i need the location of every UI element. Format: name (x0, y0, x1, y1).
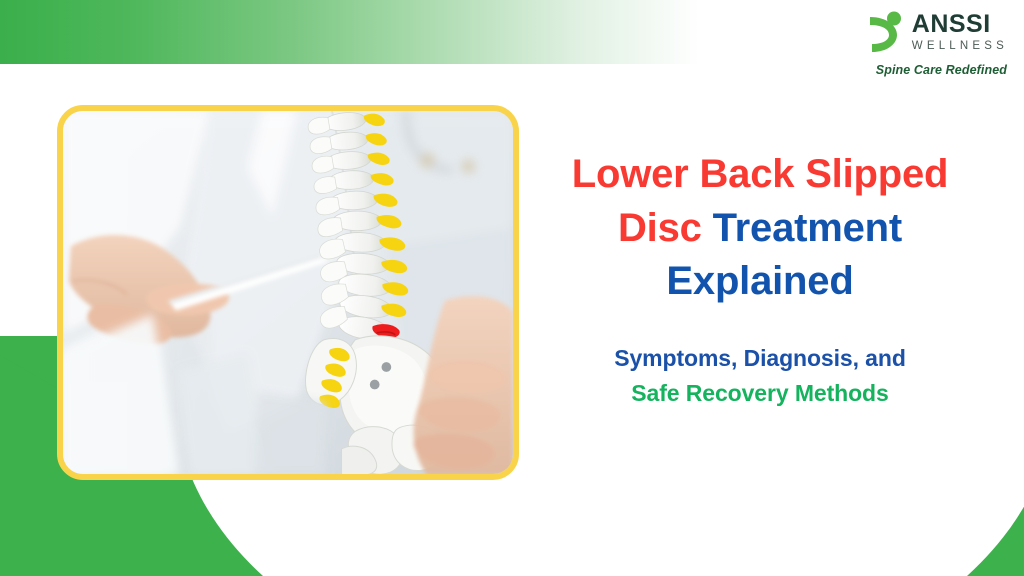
page-title: Lower Back Slipped Disc Treatment Explai… (528, 148, 992, 309)
subtitle-line2: Safe Recovery Methods (631, 380, 888, 406)
top-gradient-strip (0, 0, 700, 64)
logo-wordmark: ANSSI WELLNESS (912, 12, 1008, 53)
logo-tagline: Spine Care Redefined (828, 63, 1008, 77)
logo-name: ANSSI (912, 12, 991, 37)
headline-line3: Explained (666, 259, 853, 303)
subtitle-line1: Symptoms, Diagnosis, and (614, 345, 906, 371)
headline-line1: Lower Back Slipped (572, 152, 949, 196)
headline-line2-blue: Treatment (713, 206, 902, 250)
spine-model-photo (57, 105, 519, 480)
person-arc-logo-icon (861, 10, 905, 54)
headline-line2-red: Disc (618, 206, 702, 250)
logo-row: ANSSI WELLNESS (828, 8, 1008, 56)
text-block: Lower Back Slipped Disc Treatment Explai… (528, 148, 992, 412)
brand-logo[interactable]: ANSSI WELLNESS Spine Care Redefined (828, 8, 1008, 82)
promo-banner: ANSSI WELLNESS Spine Care Redefined (0, 0, 1024, 576)
subtitle: Symptoms, Diagnosis, and Safe Recovery M… (528, 341, 992, 412)
logo-subname: WELLNESS (912, 41, 1008, 53)
